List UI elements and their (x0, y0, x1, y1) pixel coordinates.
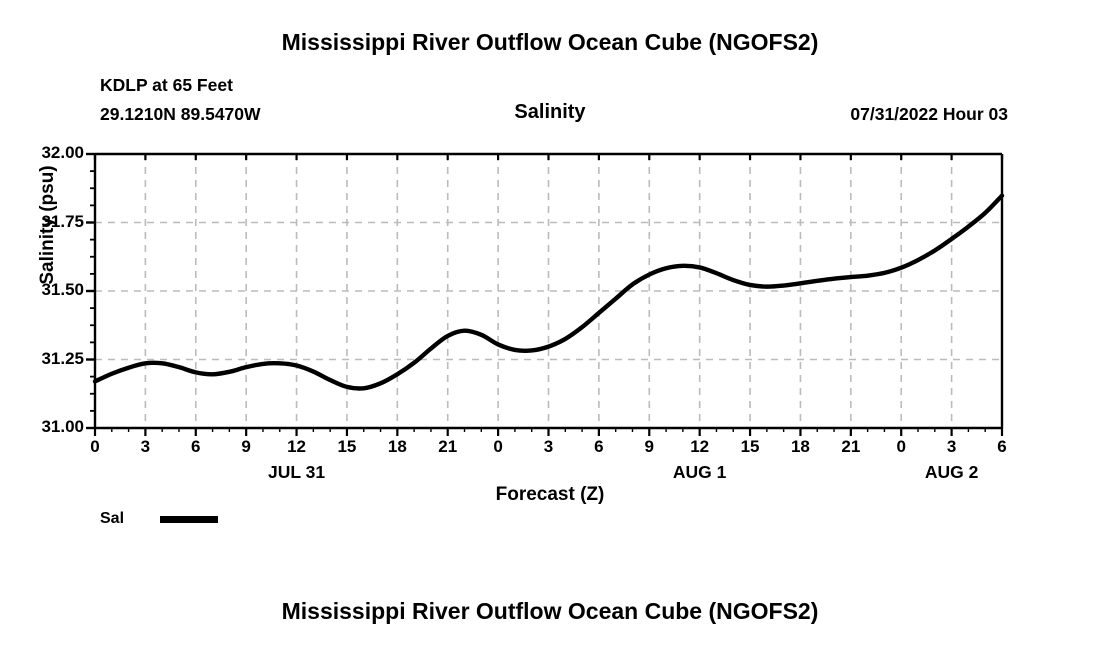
plot-area: Salinity (psu) 31.0031.2531.5031.7532.00… (0, 0, 1100, 650)
x-tick-label: 18 (377, 437, 417, 457)
x-tick-label: 21 (428, 437, 468, 457)
x-tick-label: 3 (125, 437, 165, 457)
x-tick-label: 18 (780, 437, 820, 457)
day-label: AUG 1 (630, 462, 770, 483)
grid-lines (95, 154, 1002, 428)
y-tick-label: 31.25 (0, 349, 84, 369)
axis-ticks (86, 154, 1002, 436)
x-tick-label: 21 (831, 437, 871, 457)
x-tick-label: 6 (579, 437, 619, 457)
x-tick-label: 3 (529, 437, 569, 457)
day-label: JUL 31 (227, 462, 367, 483)
x-tick-label: 12 (277, 437, 317, 457)
x-tick-label: 15 (730, 437, 770, 457)
chart-page: Mississippi River Outflow Ocean Cube (NG… (0, 0, 1100, 650)
y-tick-label: 31.00 (0, 417, 84, 437)
y-tick-label: 32.00 (0, 143, 84, 163)
y-tick-label: 31.50 (0, 280, 84, 300)
y-tick-label: 31.75 (0, 212, 84, 232)
x-tick-label: 12 (680, 437, 720, 457)
x-tick-label: 0 (478, 437, 518, 457)
footer-title: Mississippi River Outflow Ocean Cube (NG… (0, 598, 1100, 625)
x-tick-label: 9 (629, 437, 669, 457)
legend-swatch-sal (160, 516, 218, 523)
x-tick-label: 15 (327, 437, 367, 457)
salinity-line-chart (0, 0, 1100, 650)
x-tick-label: 6 (176, 437, 216, 457)
x-axis-title: Forecast (Z) (0, 484, 1100, 506)
x-tick-label: 0 (881, 437, 921, 457)
day-label: AUG 2 (882, 462, 1022, 483)
x-tick-label: 3 (932, 437, 972, 457)
x-tick-label: 0 (75, 437, 115, 457)
x-tick-label: 6 (982, 437, 1022, 457)
x-tick-label: 9 (226, 437, 266, 457)
legend-label-sal: Sal (100, 510, 124, 528)
